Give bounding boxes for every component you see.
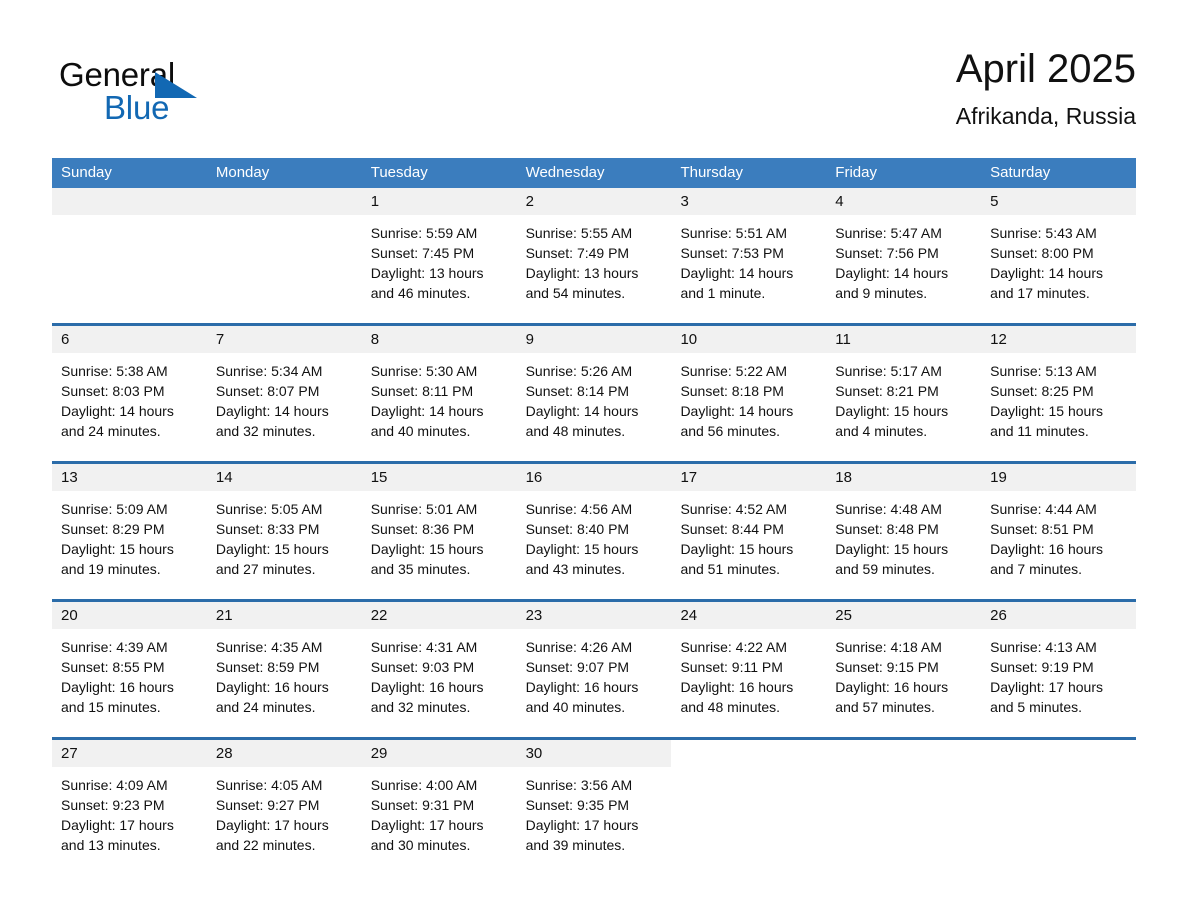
day-detail-line: Daylight: 17 hours bbox=[371, 815, 508, 835]
day-detail-text bbox=[52, 215, 207, 223]
day-detail-line: Sunset: 8:07 PM bbox=[216, 381, 353, 401]
title-block: April 2025 Afrikanda, Russia bbox=[956, 44, 1136, 130]
day-detail-line: Sunset: 9:19 PM bbox=[990, 657, 1127, 677]
day-detail-line: Sunset: 8:21 PM bbox=[835, 381, 972, 401]
day-number-band: 13 bbox=[52, 464, 207, 491]
day-detail-line: Sunset: 8:40 PM bbox=[526, 519, 663, 539]
day-detail-line: Daylight: 14 hours bbox=[526, 401, 663, 421]
day-detail-text: Sunrise: 4:26 AMSunset: 9:07 PMDaylight:… bbox=[517, 629, 672, 717]
day-detail-line: and 22 minutes. bbox=[216, 835, 353, 855]
day-detail-line: Daylight: 17 hours bbox=[990, 677, 1127, 697]
day-detail-line: Daylight: 13 hours bbox=[526, 263, 663, 283]
day-number: 7 bbox=[207, 326, 362, 353]
day-detail-line: and 48 minutes. bbox=[680, 697, 817, 717]
day-detail-line: Sunrise: 5:01 AM bbox=[371, 499, 508, 519]
day-detail-line: Sunset: 8:00 PM bbox=[990, 243, 1127, 263]
day-detail-text: Sunrise: 4:13 AMSunset: 9:19 PMDaylight:… bbox=[981, 629, 1136, 717]
day-detail-line: and 30 minutes. bbox=[371, 835, 508, 855]
day-detail-line: and 32 minutes. bbox=[371, 697, 508, 717]
day-detail-text: Sunrise: 4:31 AMSunset: 9:03 PMDaylight:… bbox=[362, 629, 517, 717]
day-detail-line: Daylight: 14 hours bbox=[680, 263, 817, 283]
day-detail-line: and 46 minutes. bbox=[371, 283, 508, 303]
calendar-day-cell[interactable]: 10Sunrise: 5:22 AMSunset: 8:18 PMDayligh… bbox=[671, 326, 826, 456]
calendar-day-cell[interactable]: 20Sunrise: 4:39 AMSunset: 8:55 PMDayligh… bbox=[52, 602, 207, 732]
day-detail-text: Sunrise: 5:51 AMSunset: 7:53 PMDaylight:… bbox=[671, 215, 826, 303]
day-detail-line: Daylight: 17 hours bbox=[526, 815, 663, 835]
day-number-band: 23 bbox=[517, 602, 672, 629]
day-number-band: 6 bbox=[52, 326, 207, 353]
day-detail-line: Sunrise: 5:34 AM bbox=[216, 361, 353, 381]
weekday-header-wednesday: Wednesday bbox=[517, 158, 672, 188]
day-detail-line: and 57 minutes. bbox=[835, 697, 972, 717]
day-number: 27 bbox=[52, 740, 207, 767]
day-number-band: 21 bbox=[207, 602, 362, 629]
day-detail-line: Daylight: 16 hours bbox=[216, 677, 353, 697]
day-detail-line: Daylight: 15 hours bbox=[835, 401, 972, 421]
day-detail-text: Sunrise: 5:13 AMSunset: 8:25 PMDaylight:… bbox=[981, 353, 1136, 441]
day-detail-line: Sunrise: 4:52 AM bbox=[680, 499, 817, 519]
day-detail-line: and 39 minutes. bbox=[526, 835, 663, 855]
day-detail-text: Sunrise: 4:44 AMSunset: 8:51 PMDaylight:… bbox=[981, 491, 1136, 579]
day-detail-line: Daylight: 15 hours bbox=[371, 539, 508, 559]
day-detail-line: Daylight: 15 hours bbox=[835, 539, 972, 559]
calendar-day-cell[interactable]: 22Sunrise: 4:31 AMSunset: 9:03 PMDayligh… bbox=[362, 602, 517, 732]
day-detail-line: Sunset: 9:03 PM bbox=[371, 657, 508, 677]
day-number-band: 17 bbox=[671, 464, 826, 491]
day-detail-line: and 5 minutes. bbox=[990, 697, 1127, 717]
day-detail-line: and 54 minutes. bbox=[526, 283, 663, 303]
day-detail-line: Daylight: 16 hours bbox=[990, 539, 1127, 559]
day-detail-line: Daylight: 14 hours bbox=[835, 263, 972, 283]
calendar-day-cell-empty bbox=[981, 740, 1136, 870]
day-number-band: 26 bbox=[981, 602, 1136, 629]
day-detail-line: Sunrise: 4:35 AM bbox=[216, 637, 353, 657]
weekday-header-saturday: Saturday bbox=[981, 158, 1136, 188]
day-number-band: 18 bbox=[826, 464, 981, 491]
day-detail-line: Sunrise: 3:56 AM bbox=[526, 775, 663, 795]
calendar-weeks: 1Sunrise: 5:59 AMSunset: 7:45 PMDaylight… bbox=[52, 188, 1136, 870]
day-detail-line: Sunset: 8:03 PM bbox=[61, 381, 198, 401]
day-detail-line: Sunset: 9:15 PM bbox=[835, 657, 972, 677]
day-detail-line: Sunrise: 4:00 AM bbox=[371, 775, 508, 795]
day-detail-line: Sunset: 9:35 PM bbox=[526, 795, 663, 815]
day-detail-line: Daylight: 15 hours bbox=[526, 539, 663, 559]
day-number: 30 bbox=[517, 740, 672, 767]
day-number: 18 bbox=[826, 464, 981, 491]
day-detail-text: Sunrise: 4:22 AMSunset: 9:11 PMDaylight:… bbox=[671, 629, 826, 717]
day-number-band bbox=[981, 740, 1136, 767]
day-detail-text: Sunrise: 4:35 AMSunset: 8:59 PMDaylight:… bbox=[207, 629, 362, 717]
day-detail-line: and 32 minutes. bbox=[216, 421, 353, 441]
day-detail-line: Sunset: 7:49 PM bbox=[526, 243, 663, 263]
calendar-day-cell[interactable]: 5Sunrise: 5:43 AMSunset: 8:00 PMDaylight… bbox=[981, 188, 1136, 318]
day-number: 23 bbox=[517, 602, 672, 629]
day-detail-text: Sunrise: 5:26 AMSunset: 8:14 PMDaylight:… bbox=[517, 353, 672, 441]
day-number-band: 25 bbox=[826, 602, 981, 629]
day-number-band: 24 bbox=[671, 602, 826, 629]
day-detail-line: Sunset: 8:18 PM bbox=[680, 381, 817, 401]
day-detail-line: Daylight: 16 hours bbox=[61, 677, 198, 697]
calendar-day-cell[interactable]: 15Sunrise: 5:01 AMSunset: 8:36 PMDayligh… bbox=[362, 464, 517, 594]
day-number: 4 bbox=[826, 188, 981, 215]
weekday-header-sunday: Sunday bbox=[52, 158, 207, 188]
day-detail-text: Sunrise: 4:18 AMSunset: 9:15 PMDaylight:… bbox=[826, 629, 981, 717]
calendar-day-cell[interactable]: 19Sunrise: 4:44 AMSunset: 8:51 PMDayligh… bbox=[981, 464, 1136, 594]
day-detail-line: Daylight: 17 hours bbox=[61, 815, 198, 835]
day-detail-line: Sunrise: 5:30 AM bbox=[371, 361, 508, 381]
day-number-band: 27 bbox=[52, 740, 207, 767]
calendar-day-cell[interactable]: 1Sunrise: 5:59 AMSunset: 7:45 PMDaylight… bbox=[362, 188, 517, 318]
day-detail-line: and 56 minutes. bbox=[680, 421, 817, 441]
day-number-band: 28 bbox=[207, 740, 362, 767]
day-detail-text: Sunrise: 5:30 AMSunset: 8:11 PMDaylight:… bbox=[362, 353, 517, 441]
day-detail-line: and 7 minutes. bbox=[990, 559, 1127, 579]
weekday-header-tuesday: Tuesday bbox=[362, 158, 517, 188]
day-detail-line: and 48 minutes. bbox=[526, 421, 663, 441]
day-detail-line: Daylight: 17 hours bbox=[216, 815, 353, 835]
day-number: 5 bbox=[981, 188, 1136, 215]
day-detail-line: Daylight: 16 hours bbox=[526, 677, 663, 697]
day-detail-line: and 40 minutes. bbox=[526, 697, 663, 717]
day-detail-text: Sunrise: 3:56 AMSunset: 9:35 PMDaylight:… bbox=[517, 767, 672, 855]
day-detail-line: Sunrise: 4:56 AM bbox=[526, 499, 663, 519]
day-number: 22 bbox=[362, 602, 517, 629]
day-number-band bbox=[207, 188, 362, 215]
day-number-band bbox=[52, 188, 207, 215]
day-detail-line: Sunrise: 5:22 AM bbox=[680, 361, 817, 381]
calendar-day-cell-empty bbox=[826, 740, 981, 870]
calendar-day-cell[interactable]: 13Sunrise: 5:09 AMSunset: 8:29 PMDayligh… bbox=[52, 464, 207, 594]
day-detail-line: Sunrise: 4:13 AM bbox=[990, 637, 1127, 657]
calendar-day-cell[interactable]: 29Sunrise: 4:00 AMSunset: 9:31 PMDayligh… bbox=[362, 740, 517, 870]
day-detail-text: Sunrise: 4:56 AMSunset: 8:40 PMDaylight:… bbox=[517, 491, 672, 579]
day-detail-line: Sunrise: 4:05 AM bbox=[216, 775, 353, 795]
day-number: 19 bbox=[981, 464, 1136, 491]
day-detail-text: Sunrise: 5:43 AMSunset: 8:00 PMDaylight:… bbox=[981, 215, 1136, 303]
day-detail-line: Sunset: 9:23 PM bbox=[61, 795, 198, 815]
day-detail-text: Sunrise: 4:00 AMSunset: 9:31 PMDaylight:… bbox=[362, 767, 517, 855]
day-number: 16 bbox=[517, 464, 672, 491]
day-detail-line: Sunset: 8:44 PM bbox=[680, 519, 817, 539]
day-number-band bbox=[826, 740, 981, 767]
day-number-band: 15 bbox=[362, 464, 517, 491]
day-number: 14 bbox=[207, 464, 362, 491]
page-subtitle: Afrikanda, Russia bbox=[956, 102, 1136, 130]
calendar-week-row: 6Sunrise: 5:38 AMSunset: 8:03 PMDaylight… bbox=[52, 323, 1136, 456]
day-detail-text: Sunrise: 5:17 AMSunset: 8:21 PMDaylight:… bbox=[826, 353, 981, 441]
day-detail-text: Sunrise: 5:05 AMSunset: 8:33 PMDaylight:… bbox=[207, 491, 362, 579]
day-detail-text: Sunrise: 5:34 AMSunset: 8:07 PMDaylight:… bbox=[207, 353, 362, 441]
calendar-day-cell[interactable]: 6Sunrise: 5:38 AMSunset: 8:03 PMDaylight… bbox=[52, 326, 207, 456]
calendar-day-cell[interactable]: 27Sunrise: 4:09 AMSunset: 9:23 PMDayligh… bbox=[52, 740, 207, 870]
day-detail-line: Sunrise: 4:39 AM bbox=[61, 637, 198, 657]
day-number: 6 bbox=[52, 326, 207, 353]
day-number: 25 bbox=[826, 602, 981, 629]
calendar-day-cell[interactable]: 9Sunrise: 5:26 AMSunset: 8:14 PMDaylight… bbox=[517, 326, 672, 456]
weekday-header-row: SundayMondayTuesdayWednesdayThursdayFrid… bbox=[52, 158, 1136, 188]
day-detail-line: Sunset: 8:51 PM bbox=[990, 519, 1127, 539]
day-number-band: 8 bbox=[362, 326, 517, 353]
day-detail-line: Sunset: 7:53 PM bbox=[680, 243, 817, 263]
calendar-day-cell-empty bbox=[52, 188, 207, 318]
day-detail-line: Daylight: 14 hours bbox=[680, 401, 817, 421]
calendar-day-cell[interactable]: 23Sunrise: 4:26 AMSunset: 9:07 PMDayligh… bbox=[517, 602, 672, 732]
page-header: General Blue April 2025 Afrikanda, Russi… bbox=[52, 44, 1136, 148]
day-number-band: 16 bbox=[517, 464, 672, 491]
day-detail-line: Sunset: 7:56 PM bbox=[835, 243, 972, 263]
logo-text-blue: Blue bbox=[104, 89, 169, 127]
day-number: 9 bbox=[517, 326, 672, 353]
day-number-band: 5 bbox=[981, 188, 1136, 215]
day-detail-line: and 15 minutes. bbox=[61, 697, 198, 717]
day-detail-line: and 43 minutes. bbox=[526, 559, 663, 579]
day-detail-line: Sunrise: 4:22 AM bbox=[680, 637, 817, 657]
day-detail-text: Sunrise: 4:39 AMSunset: 8:55 PMDaylight:… bbox=[52, 629, 207, 717]
day-detail-line: and 27 minutes. bbox=[216, 559, 353, 579]
day-detail-line: Sunrise: 4:31 AM bbox=[371, 637, 508, 657]
calendar-day-cell[interactable]: 3Sunrise: 5:51 AMSunset: 7:53 PMDaylight… bbox=[671, 188, 826, 318]
day-number-band: 22 bbox=[362, 602, 517, 629]
calendar-week-row: 13Sunrise: 5:09 AMSunset: 8:29 PMDayligh… bbox=[52, 461, 1136, 594]
day-detail-line: Daylight: 15 hours bbox=[216, 539, 353, 559]
day-number: 20 bbox=[52, 602, 207, 629]
calendar-day-cell-empty bbox=[671, 740, 826, 870]
day-detail-line: and 59 minutes. bbox=[835, 559, 972, 579]
calendar-day-cell[interactable]: 28Sunrise: 4:05 AMSunset: 9:27 PMDayligh… bbox=[207, 740, 362, 870]
day-number-band: 14 bbox=[207, 464, 362, 491]
day-detail-line: Daylight: 16 hours bbox=[680, 677, 817, 697]
day-number-band: 30 bbox=[517, 740, 672, 767]
day-detail-line: Sunrise: 5:26 AM bbox=[526, 361, 663, 381]
general-blue-logo[interactable]: General Blue bbox=[59, 56, 279, 134]
day-detail-line: and 19 minutes. bbox=[61, 559, 198, 579]
calendar-day-cell[interactable]: 8Sunrise: 5:30 AMSunset: 8:11 PMDaylight… bbox=[362, 326, 517, 456]
day-detail-line: Sunrise: 5:13 AM bbox=[990, 361, 1127, 381]
day-detail-line: and 13 minutes. bbox=[61, 835, 198, 855]
day-detail-line: Sunrise: 5:17 AM bbox=[835, 361, 972, 381]
day-detail-line: Daylight: 14 hours bbox=[216, 401, 353, 421]
day-number-band: 7 bbox=[207, 326, 362, 353]
day-number: 8 bbox=[362, 326, 517, 353]
day-detail-line: Sunset: 8:14 PM bbox=[526, 381, 663, 401]
weekday-header-friday: Friday bbox=[826, 158, 981, 188]
calendar-day-cell[interactable]: 30Sunrise: 3:56 AMSunset: 9:35 PMDayligh… bbox=[517, 740, 672, 870]
day-number-band bbox=[671, 740, 826, 767]
day-detail-text: Sunrise: 4:48 AMSunset: 8:48 PMDaylight:… bbox=[826, 491, 981, 579]
calendar-week-row: 1Sunrise: 5:59 AMSunset: 7:45 PMDaylight… bbox=[52, 188, 1136, 318]
day-detail-line: Sunset: 8:55 PM bbox=[61, 657, 198, 677]
calendar-page: General Blue April 2025 Afrikanda, Russi… bbox=[0, 0, 1188, 918]
calendar-day-cell[interactable]: 14Sunrise: 5:05 AMSunset: 8:33 PMDayligh… bbox=[207, 464, 362, 594]
day-number: 26 bbox=[981, 602, 1136, 629]
calendar-day-cell[interactable]: 17Sunrise: 4:52 AMSunset: 8:44 PMDayligh… bbox=[671, 464, 826, 594]
day-detail-line: Sunset: 9:27 PM bbox=[216, 795, 353, 815]
day-detail-line: Sunrise: 5:43 AM bbox=[990, 223, 1127, 243]
page-title: April 2025 bbox=[956, 44, 1136, 94]
day-detail-line: Sunrise: 5:47 AM bbox=[835, 223, 972, 243]
day-detail-text: Sunrise: 5:09 AMSunset: 8:29 PMDaylight:… bbox=[52, 491, 207, 579]
day-number: 3 bbox=[671, 188, 826, 215]
calendar-day-cell[interactable]: 24Sunrise: 4:22 AMSunset: 9:11 PMDayligh… bbox=[671, 602, 826, 732]
calendar-day-cell[interactable]: 7Sunrise: 5:34 AMSunset: 8:07 PMDaylight… bbox=[207, 326, 362, 456]
day-number-band: 29 bbox=[362, 740, 517, 767]
day-detail-line: Daylight: 13 hours bbox=[371, 263, 508, 283]
calendar-grid: SundayMondayTuesdayWednesdayThursdayFrid… bbox=[52, 158, 1136, 870]
day-detail-text: Sunrise: 5:55 AMSunset: 7:49 PMDaylight:… bbox=[517, 215, 672, 303]
calendar-day-cell[interactable]: 16Sunrise: 4:56 AMSunset: 8:40 PMDayligh… bbox=[517, 464, 672, 594]
day-number-band: 3 bbox=[671, 188, 826, 215]
day-detail-line: Sunset: 8:29 PM bbox=[61, 519, 198, 539]
day-number: 15 bbox=[362, 464, 517, 491]
day-number-band: 4 bbox=[826, 188, 981, 215]
calendar-day-cell[interactable]: 2Sunrise: 5:55 AMSunset: 7:49 PMDaylight… bbox=[517, 188, 672, 318]
day-detail-text bbox=[207, 215, 362, 223]
day-detail-text: Sunrise: 5:59 AMSunset: 7:45 PMDaylight:… bbox=[362, 215, 517, 303]
day-detail-line: Sunset: 8:48 PM bbox=[835, 519, 972, 539]
day-number-band: 9 bbox=[517, 326, 672, 353]
day-number: 11 bbox=[826, 326, 981, 353]
day-detail-line: and 24 minutes. bbox=[61, 421, 198, 441]
calendar-day-cell[interactable]: 11Sunrise: 5:17 AMSunset: 8:21 PMDayligh… bbox=[826, 326, 981, 456]
day-detail-line: Sunrise: 5:55 AM bbox=[526, 223, 663, 243]
day-detail-line: and 40 minutes. bbox=[371, 421, 508, 441]
calendar-week-row: 20Sunrise: 4:39 AMSunset: 8:55 PMDayligh… bbox=[52, 599, 1136, 732]
day-detail-line: Sunset: 9:31 PM bbox=[371, 795, 508, 815]
day-detail-line: Sunrise: 5:05 AM bbox=[216, 499, 353, 519]
day-number: 12 bbox=[981, 326, 1136, 353]
day-detail-line: Sunset: 8:36 PM bbox=[371, 519, 508, 539]
day-detail-text: Sunrise: 5:01 AMSunset: 8:36 PMDaylight:… bbox=[362, 491, 517, 579]
day-number: 24 bbox=[671, 602, 826, 629]
day-detail-line: Daylight: 14 hours bbox=[61, 401, 198, 421]
day-detail-line: Sunrise: 4:26 AM bbox=[526, 637, 663, 657]
day-detail-line: Sunset: 9:07 PM bbox=[526, 657, 663, 677]
day-detail-line: Sunset: 9:11 PM bbox=[680, 657, 817, 677]
day-detail-text: Sunrise: 5:38 AMSunset: 8:03 PMDaylight:… bbox=[52, 353, 207, 441]
day-detail-text: Sunrise: 4:52 AMSunset: 8:44 PMDaylight:… bbox=[671, 491, 826, 579]
day-detail-line: and 4 minutes. bbox=[835, 421, 972, 441]
day-detail-line: Daylight: 16 hours bbox=[371, 677, 508, 697]
day-detail-line: Daylight: 15 hours bbox=[680, 539, 817, 559]
day-detail-text: Sunrise: 4:05 AMSunset: 9:27 PMDaylight:… bbox=[207, 767, 362, 855]
day-detail-line: Sunset: 8:33 PM bbox=[216, 519, 353, 539]
day-detail-text: Sunrise: 5:47 AMSunset: 7:56 PMDaylight:… bbox=[826, 215, 981, 303]
day-detail-line: Sunrise: 5:51 AM bbox=[680, 223, 817, 243]
weekday-header-monday: Monday bbox=[207, 158, 362, 188]
calendar-week-row: 27Sunrise: 4:09 AMSunset: 9:23 PMDayligh… bbox=[52, 737, 1136, 870]
weekday-header-thursday: Thursday bbox=[671, 158, 826, 188]
day-number: 10 bbox=[671, 326, 826, 353]
day-number-band: 20 bbox=[52, 602, 207, 629]
day-detail-line: and 24 minutes. bbox=[216, 697, 353, 717]
calendar-day-cell[interactable]: 12Sunrise: 5:13 AMSunset: 8:25 PMDayligh… bbox=[981, 326, 1136, 456]
day-detail-line: and 1 minute. bbox=[680, 283, 817, 303]
day-number: 17 bbox=[671, 464, 826, 491]
calendar-day-cell[interactable]: 25Sunrise: 4:18 AMSunset: 9:15 PMDayligh… bbox=[826, 602, 981, 732]
day-number: 29 bbox=[362, 740, 517, 767]
calendar-day-cell[interactable]: 4Sunrise: 5:47 AMSunset: 7:56 PMDaylight… bbox=[826, 188, 981, 318]
day-number-band: 10 bbox=[671, 326, 826, 353]
day-number: 13 bbox=[52, 464, 207, 491]
day-detail-line: and 51 minutes. bbox=[680, 559, 817, 579]
day-number-band: 1 bbox=[362, 188, 517, 215]
day-number: 28 bbox=[207, 740, 362, 767]
day-detail-line: and 17 minutes. bbox=[990, 283, 1127, 303]
day-detail-line: Sunset: 7:45 PM bbox=[371, 243, 508, 263]
day-detail-line: and 11 minutes. bbox=[990, 421, 1127, 441]
day-detail-line: Sunrise: 5:38 AM bbox=[61, 361, 198, 381]
calendar-day-cell[interactable]: 21Sunrise: 4:35 AMSunset: 8:59 PMDayligh… bbox=[207, 602, 362, 732]
day-number: 2 bbox=[517, 188, 672, 215]
day-detail-line: Sunset: 8:25 PM bbox=[990, 381, 1127, 401]
day-detail-line: and 9 minutes. bbox=[835, 283, 972, 303]
day-detail-line: Sunrise: 5:59 AM bbox=[371, 223, 508, 243]
calendar-day-cell-empty bbox=[207, 188, 362, 318]
day-detail-line: Daylight: 15 hours bbox=[990, 401, 1127, 421]
day-detail-line: Daylight: 14 hours bbox=[990, 263, 1127, 283]
calendar-day-cell[interactable]: 18Sunrise: 4:48 AMSunset: 8:48 PMDayligh… bbox=[826, 464, 981, 594]
day-detail-line: Sunset: 8:59 PM bbox=[216, 657, 353, 677]
day-detail-line: and 35 minutes. bbox=[371, 559, 508, 579]
day-detail-line: Sunrise: 5:09 AM bbox=[61, 499, 198, 519]
day-number-band: 2 bbox=[517, 188, 672, 215]
day-detail-line: Sunrise: 4:18 AM bbox=[835, 637, 972, 657]
day-number-band: 19 bbox=[981, 464, 1136, 491]
day-number-band: 11 bbox=[826, 326, 981, 353]
day-detail-line: Daylight: 16 hours bbox=[835, 677, 972, 697]
day-number: 21 bbox=[207, 602, 362, 629]
day-number: 1 bbox=[362, 188, 517, 215]
day-detail-line: Sunrise: 4:44 AM bbox=[990, 499, 1127, 519]
day-detail-text: Sunrise: 5:22 AMSunset: 8:18 PMDaylight:… bbox=[671, 353, 826, 441]
day-detail-line: Daylight: 14 hours bbox=[371, 401, 508, 421]
day-number-band: 12 bbox=[981, 326, 1136, 353]
day-detail-text: Sunrise: 4:09 AMSunset: 9:23 PMDaylight:… bbox=[52, 767, 207, 855]
day-detail-line: Sunset: 8:11 PM bbox=[371, 381, 508, 401]
day-detail-line: Sunrise: 4:48 AM bbox=[835, 499, 972, 519]
day-detail-line: Sunrise: 4:09 AM bbox=[61, 775, 198, 795]
calendar-day-cell[interactable]: 26Sunrise: 4:13 AMSunset: 9:19 PMDayligh… bbox=[981, 602, 1136, 732]
day-detail-line: Daylight: 15 hours bbox=[61, 539, 198, 559]
